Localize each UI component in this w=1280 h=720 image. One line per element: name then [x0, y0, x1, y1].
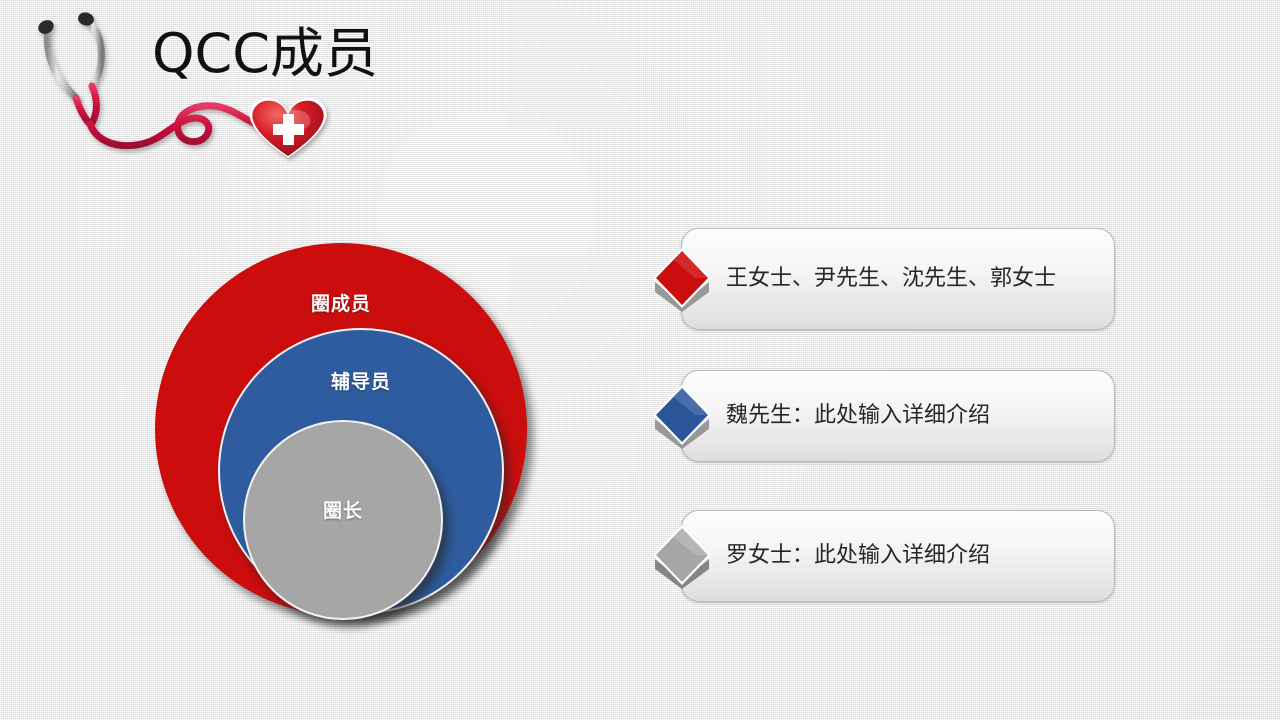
gray-diamond-marker [645, 519, 719, 593]
heart-cross-icon [250, 98, 327, 158]
info-box[interactable]: 罗女士：此处输入详细介绍 [681, 510, 1115, 602]
info-box[interactable]: 魏先生：此处输入详细介绍 [681, 370, 1115, 462]
slide-header: QCC成员 [0, 0, 420, 175]
ring-inner-circle-leader[interactable]: 圈长 [243, 420, 443, 620]
info-text: 魏先生：此处输入详细介绍 [726, 400, 1092, 432]
list-item[interactable]: 罗女士：此处输入详细介绍 [645, 510, 1115, 602]
info-text: 罗女士：此处输入详细介绍 [726, 540, 1092, 572]
page-title: QCC成员 [152, 22, 378, 86]
ring-middle-label: 辅导员 [220, 367, 502, 394]
slide-canvas: QCC成员 圈成员 辅导员 圈长 王女士、尹先生、沈先生、郭女士 [0, 0, 1280, 720]
list-item[interactable]: 魏先生：此处输入详细介绍 [645, 370, 1115, 462]
list-item[interactable]: 王女士、尹先生、沈先生、郭女士 [645, 228, 1115, 330]
info-text: 王女士、尹先生、沈先生、郭女士 [726, 263, 1092, 295]
blue-diamond-marker [645, 379, 719, 453]
red-diamond-marker [645, 242, 719, 316]
concentric-circles-diagram: 圈成员 辅导员 圈长 [130, 225, 560, 635]
member-info-list: 王女士、尹先生、沈先生、郭女士 魏先生：此处输入详细介绍 [645, 228, 1115, 628]
ring-outer-label: 圈成员 [155, 289, 527, 316]
info-box[interactable]: 王女士、尹先生、沈先生、郭女士 [681, 228, 1115, 330]
ring-inner-label: 圈长 [245, 496, 441, 523]
